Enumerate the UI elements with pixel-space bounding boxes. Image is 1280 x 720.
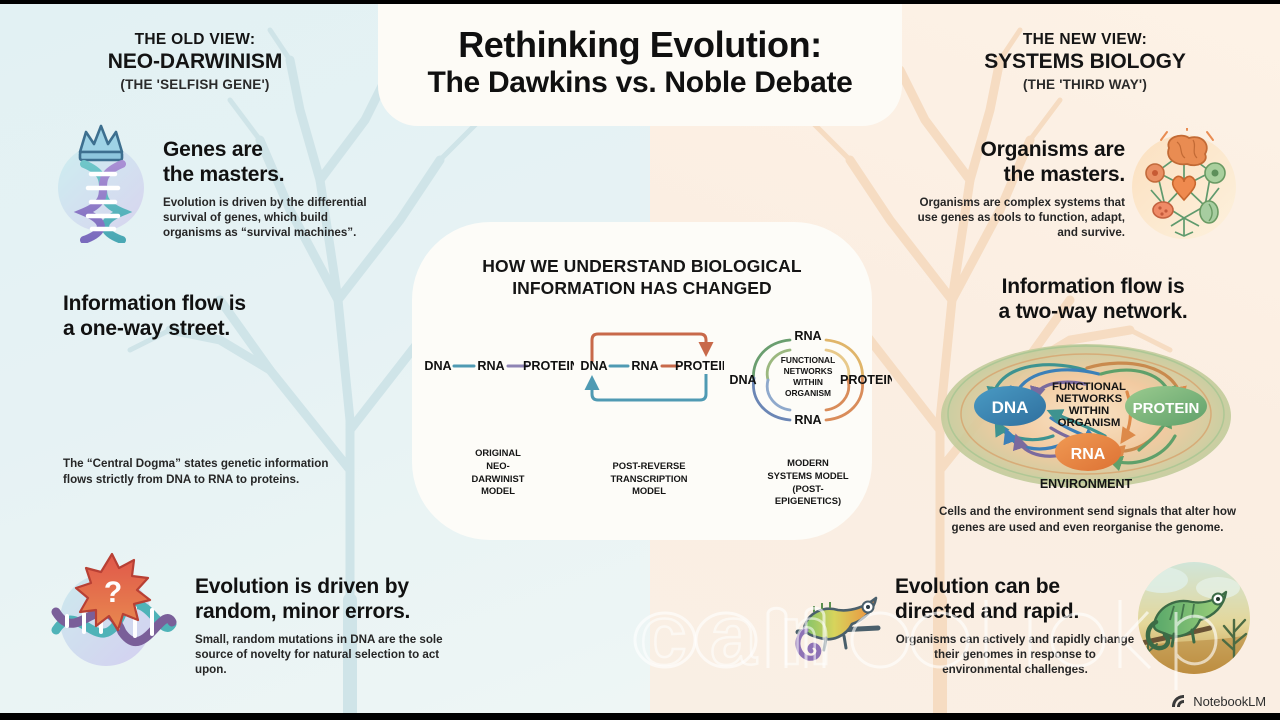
notebooklm-branding: NotebookLM bbox=[1170, 693, 1266, 710]
page-title: Rethinking Evolution: bbox=[458, 26, 822, 63]
svg-text:RNA: RNA bbox=[794, 329, 821, 343]
left-header-title: NEO-DARWINISM bbox=[35, 49, 355, 74]
svg-text:ORGANISM: ORGANISM bbox=[1058, 417, 1121, 429]
right-block-directed-title: Evolution can be directed and rapid. bbox=[895, 575, 1135, 625]
center-panel: HOW WE UNDERSTAND BIOLOGICAL INFORMATION… bbox=[412, 222, 872, 540]
network-node-protein: PROTEIN bbox=[1133, 400, 1200, 417]
dna-strand-question-burst-icon: ? bbox=[44, 552, 179, 680]
letterbox-top bbox=[0, 0, 1280, 4]
svg-text:PROTEIN: PROTEIN bbox=[675, 359, 724, 373]
svg-text:NETWORKS: NETWORKS bbox=[1056, 393, 1123, 405]
model-original-caption: ORIGINAL NEO-DARWINIST MODEL bbox=[460, 447, 536, 498]
chameleon-scene-icon bbox=[1134, 558, 1254, 678]
right-block-two-way-title: Information flow is a two-way network. bbox=[943, 275, 1243, 325]
left-block-random-errors: Evolution is driven by random, minor err… bbox=[195, 575, 445, 677]
left-block-random-errors-title: Evolution is driven by random, minor err… bbox=[195, 575, 445, 625]
two-way-network-diagram-icon: DNA PROTEIN RNA FUNCTIONAL NETWORKS WITH… bbox=[935, 340, 1237, 500]
left-header-note: (THE 'SELFISH GENE') bbox=[35, 76, 355, 94]
infographic-canvas: Rethinking Evolution: The Dawkins vs. No… bbox=[0, 0, 1280, 720]
right-block-organisms-masters: Organisms are the masters. Organisms are… bbox=[915, 138, 1125, 240]
right-block-two-way-network: Information flow is a two-way network. bbox=[943, 275, 1243, 325]
notebooklm-label: NotebookLM bbox=[1193, 694, 1266, 709]
right-header-title: SYSTEMS BIOLOGY bbox=[925, 49, 1245, 74]
svg-text:FUNCTIONAL: FUNCTIONAL bbox=[781, 355, 835, 365]
center-panel-heading: HOW WE UNDERSTAND BIOLOGICAL INFORMATION… bbox=[482, 255, 801, 300]
svg-text:NETWORKS: NETWORKS bbox=[784, 366, 833, 376]
right-block-organisms-body: Organisms are complex systems that use g… bbox=[915, 195, 1125, 241]
right-block-two-way-body: Cells and the environment send signals t… bbox=[935, 504, 1240, 535]
chameleon-colorful-icon bbox=[790, 592, 886, 684]
right-column-header: THE NEW VIEW: SYSTEMS BIOLOGY (THE 'THIR… bbox=[925, 30, 1245, 93]
svg-text:?: ? bbox=[104, 576, 122, 609]
svg-text:RNA: RNA bbox=[794, 413, 821, 427]
right-header-kicker: THE NEW VIEW: bbox=[925, 30, 1245, 49]
network-environment-label: ENVIRONMENT bbox=[1040, 477, 1133, 491]
left-block-info-flow: Information flow is a one-way street. bbox=[63, 292, 343, 342]
post-reverse-model-diagram: DNA RNA PROTEIN bbox=[574, 322, 724, 408]
notebooklm-icon bbox=[1170, 693, 1187, 710]
page-subtitle: The Dawkins vs. Noble Debate bbox=[427, 66, 852, 100]
svg-text:DNA: DNA bbox=[424, 359, 451, 373]
svg-text:ORGANISM: ORGANISM bbox=[785, 388, 831, 398]
left-block-info-flow-body: The “Central Dogma” states genetic infor… bbox=[63, 456, 333, 487]
right-block-organisms-title: Organisms are the masters. bbox=[915, 138, 1125, 188]
models-row: DNA RNA PROTEIN ORIGINAL NEO-DARWINIST M… bbox=[412, 322, 872, 512]
svg-text:FUNCTIONAL: FUNCTIONAL bbox=[1052, 381, 1126, 393]
left-block-genes-title: Genes are the masters. bbox=[163, 138, 368, 188]
organism-network-icon bbox=[1125, 128, 1243, 246]
model-post-reverse-caption: POST-REVERSE TRANSCRIPTION MODEL bbox=[610, 460, 687, 498]
svg-text:PROTEIN: PROTEIN bbox=[840, 373, 892, 387]
svg-text:DNA: DNA bbox=[729, 373, 756, 387]
left-block-genes-body: Evolution is driven by the differential … bbox=[163, 195, 368, 241]
left-block-info-flow-title: Information flow is a one-way street. bbox=[63, 292, 343, 342]
right-block-directed-rapid: Evolution can be directed and rapid. Org… bbox=[895, 575, 1135, 677]
right-block-directed-body: Organisms can actively and rapidly chang… bbox=[895, 632, 1135, 678]
svg-text:PROTEIN: PROTEIN bbox=[523, 359, 574, 373]
network-node-rna: RNA bbox=[1071, 446, 1106, 463]
title-card: Rethinking Evolution: The Dawkins vs. No… bbox=[378, 0, 902, 126]
original-model-diagram: DNA RNA PROTEIN bbox=[422, 322, 574, 400]
left-block-genes-masters: Genes are the masters. Evolution is driv… bbox=[163, 138, 368, 240]
model-modern-systems: RNA RNA DNA PROTEIN FUNCTIONAL NETWORKS … bbox=[724, 322, 892, 512]
svg-text:DNA: DNA bbox=[580, 359, 607, 373]
svg-text:RNA: RNA bbox=[477, 359, 504, 373]
model-modern-systems-caption: MODERN SYSTEMS MODEL (POST-EPIGENETICS) bbox=[766, 457, 850, 508]
left-block-random-errors-body: Small, random mutations in DNA are the s… bbox=[195, 632, 445, 678]
right-header-note: (THE 'THIRD WAY') bbox=[925, 76, 1245, 94]
dna-helix-crown-icon bbox=[44, 118, 159, 243]
left-header-kicker: THE OLD VIEW: bbox=[35, 30, 355, 49]
modern-systems-model-diagram: RNA RNA DNA PROTEIN FUNCTIONAL NETWORKS … bbox=[724, 322, 892, 434]
svg-text:WITHIN: WITHIN bbox=[1069, 405, 1110, 417]
network-node-dna: DNA bbox=[992, 398, 1029, 417]
model-original-neo-darwinist: DNA RNA PROTEIN ORIGINAL NEO-DARWINIST M… bbox=[422, 322, 574, 512]
model-post-reverse-transcription: DNA RNA PROTEIN POST-REVERSE TRANSCRIPTI… bbox=[574, 322, 724, 512]
letterbox-bottom bbox=[0, 713, 1280, 720]
svg-text:WITHIN: WITHIN bbox=[793, 377, 823, 387]
svg-text:RNA: RNA bbox=[631, 359, 658, 373]
left-column-header: THE OLD VIEW: NEO-DARWINISM (THE 'SELFIS… bbox=[35, 30, 355, 93]
